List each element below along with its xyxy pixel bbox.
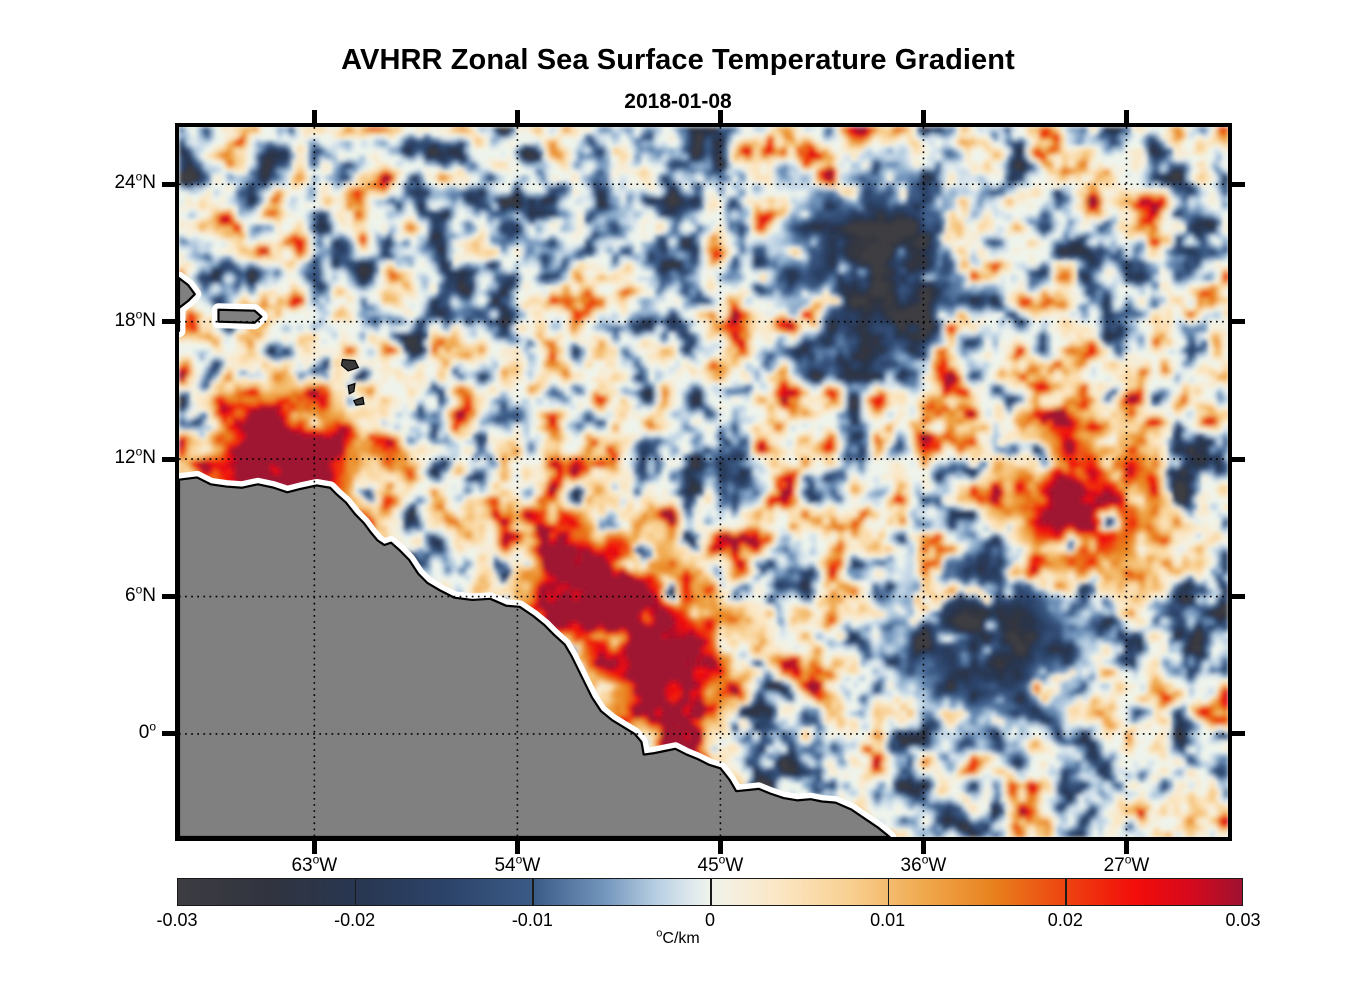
x-axis-label: 27oW — [1104, 855, 1150, 877]
colorbar-tick — [710, 878, 712, 906]
y-tick-mark-right — [1231, 182, 1245, 187]
x-axis-label: 63oW — [291, 855, 337, 877]
sst-gradient-heatmap — [179, 127, 1228, 837]
y-tick-mark-right — [1231, 731, 1245, 736]
y-axis-label: 24oN — [114, 172, 156, 194]
colorbar-tick — [888, 878, 890, 906]
colorbar-tick — [1065, 878, 1067, 906]
colorbar-tick-label: -0.02 — [334, 910, 375, 931]
x-tick-mark-top — [1124, 110, 1129, 124]
colorbar-tick-label: -0.03 — [156, 910, 197, 931]
colorbar-tick-label: 0.03 — [1225, 910, 1260, 931]
y-axis-label: 6oN — [125, 585, 156, 607]
y-tick-mark-right — [1231, 319, 1245, 324]
x-tick-mark-top — [921, 110, 926, 124]
colorbar-unit-label: oC/km — [0, 930, 1356, 948]
map-plot-area[interactable] — [175, 123, 1232, 841]
y-axis-label: 0o — [139, 722, 156, 744]
colorbar-tick — [355, 878, 357, 906]
x-axis-label: 36oW — [901, 855, 947, 877]
x-axis-label: 45oW — [698, 855, 744, 877]
y-tick-mark — [162, 594, 176, 599]
colorbar-tick — [532, 878, 534, 906]
colorbar-tick-label: -0.01 — [512, 910, 553, 931]
y-axis-label: 12oN — [114, 447, 156, 469]
y-tick-mark — [162, 731, 176, 736]
x-axis-label: 54oW — [494, 855, 540, 877]
y-tick-mark — [162, 319, 176, 324]
x-tick-mark-top — [312, 110, 317, 124]
x-tick-mark-top — [718, 110, 723, 124]
x-tick-mark-top — [515, 110, 520, 124]
y-tick-mark — [162, 457, 176, 462]
figure-subtitle: 2018-01-08 — [0, 90, 1356, 114]
y-tick-mark — [162, 182, 176, 187]
colorbar-tick-label: 0 — [705, 910, 715, 931]
figure-title: AVHRR Zonal Sea Surface Temperature Grad… — [0, 44, 1356, 77]
y-tick-mark-right — [1231, 457, 1245, 462]
y-axis-label: 18oN — [114, 310, 156, 332]
figure-root: AVHRR Zonal Sea Surface Temperature Grad… — [0, 0, 1356, 1000]
colorbar-tick-label: 0.01 — [870, 910, 905, 931]
y-tick-mark-right — [1231, 594, 1245, 599]
colorbar-tick-label: 0.02 — [1048, 910, 1083, 931]
